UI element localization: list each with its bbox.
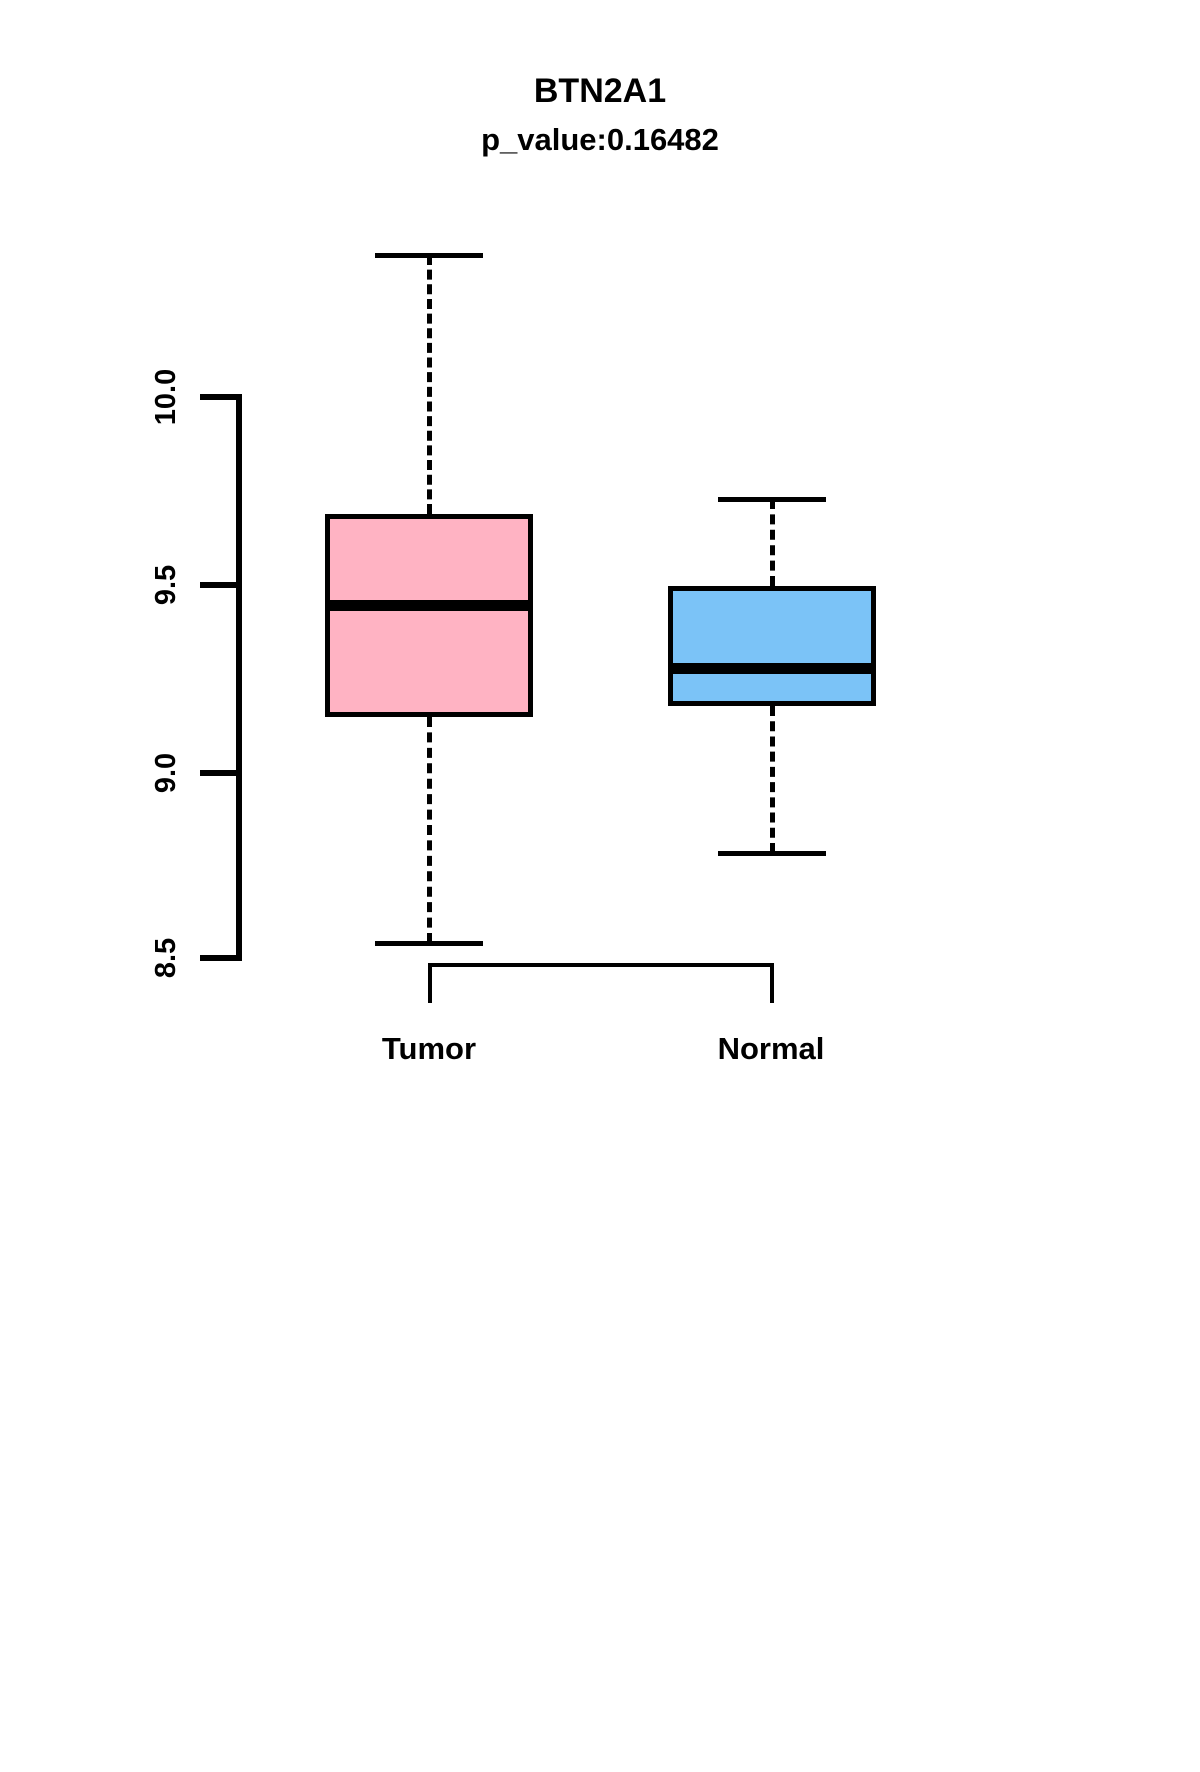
normal-median-line — [668, 663, 876, 674]
tumor-upper-whisker-cap — [375, 253, 483, 258]
y-axis-label-9-0: 9.0 — [151, 713, 181, 833]
y-axis-label-8-5: 8.5 — [151, 898, 181, 1018]
tumor-median-line — [325, 600, 533, 611]
normal-upper-whisker-cap — [718, 497, 826, 502]
normal-upper-whisker-line — [770, 499, 775, 585]
y-axis-line — [236, 394, 242, 960]
y-axis-tick-8-5 — [200, 955, 242, 961]
tumor-box-rect[interactable] — [325, 514, 533, 717]
normal-lower-whisker-cap — [718, 851, 826, 856]
y-axis-tick-9-5 — [200, 582, 242, 588]
y-axis-label-9-5: 9.5 — [151, 525, 181, 645]
normal-box-rect[interactable] — [668, 586, 876, 706]
x-axis-bracket-tick-tumor — [428, 963, 432, 1003]
x-axis-bracket — [428, 963, 774, 967]
tumor-lower-whisker-line — [427, 717, 432, 943]
x-axis-label-normal: Normal — [641, 1031, 901, 1067]
tumor-lower-whisker-cap — [375, 941, 483, 946]
y-axis-tick-9-0 — [200, 770, 242, 776]
chart-subtitle-pvalue: p_value:0.16482 — [0, 122, 1200, 158]
y-axis-label-10-0: 10.0 — [151, 337, 181, 457]
y-axis-tick-10-0 — [200, 394, 242, 400]
chart-title: BTN2A1 — [0, 72, 1200, 111]
tumor-upper-whisker-line — [427, 255, 432, 514]
normal-lower-whisker-line — [770, 706, 775, 853]
x-axis-bracket-tick-normal — [770, 963, 774, 1003]
boxplot-figure: BTN2A1 p_value:0.16482 Gene Expression L… — [0, 0, 1200, 1200]
x-axis-label-tumor: Tumor — [299, 1031, 559, 1067]
